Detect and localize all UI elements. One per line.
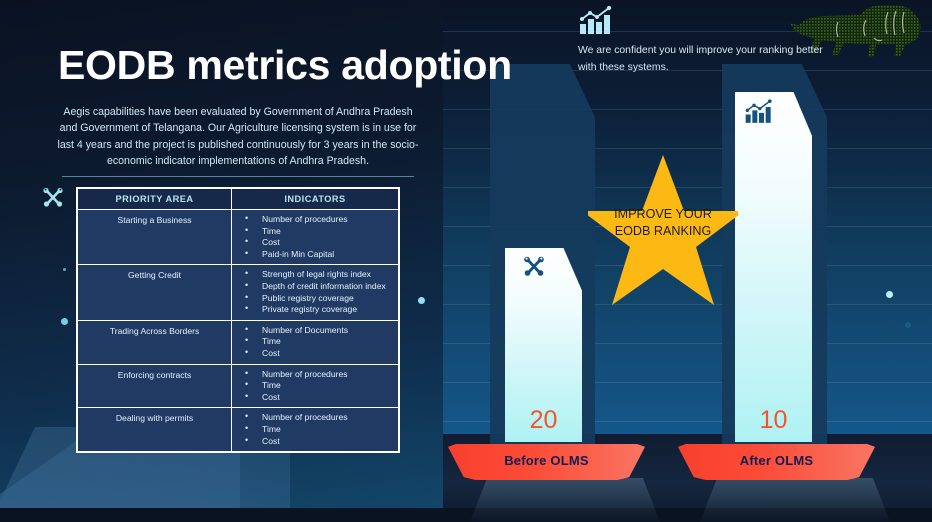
slide-root: EODB metrics adoption Aegis capabilities… bbox=[0, 0, 932, 522]
list-item: Strength of legal rights index bbox=[236, 269, 394, 281]
decor-dot bbox=[905, 322, 911, 328]
table-header-priority-area: PRIORITY AREA bbox=[77, 188, 232, 210]
priority-area-cell: Enforcing contracts bbox=[77, 364, 232, 408]
table-header-row: PRIORITY AREA INDICATORS bbox=[77, 188, 399, 210]
indicators-cell: Number of Documents Time Cost bbox=[232, 320, 399, 364]
priority-area-cell: Trading Across Borders bbox=[77, 320, 232, 364]
list-item: Private registry coverage bbox=[236, 304, 394, 316]
divider bbox=[62, 176, 414, 177]
list-item: Time bbox=[236, 336, 394, 348]
decor-dot bbox=[418, 297, 425, 304]
page-title: EODB metrics adoption bbox=[58, 42, 512, 89]
priority-area-cell: Starting a Business bbox=[77, 210, 232, 265]
banner-shadow-after bbox=[700, 478, 890, 522]
star-label: IMPROVE YOUR EODB RANKING bbox=[597, 206, 729, 240]
table-row: Dealing with permits Number of procedure… bbox=[77, 408, 399, 452]
table-row: Getting Credit Strength of legal rights … bbox=[77, 265, 399, 320]
decor-dot bbox=[63, 268, 66, 271]
list-item: Depth of credit information index bbox=[236, 281, 394, 293]
indicators-cell: Number of procedures Time Cost bbox=[232, 364, 399, 408]
decor-dot bbox=[886, 291, 893, 298]
list-item: Number of Documents bbox=[236, 325, 394, 337]
bar-chart-icon bbox=[744, 99, 774, 125]
indicators-cell: Strength of legal rights index Depth of … bbox=[232, 265, 399, 320]
list-item: Time bbox=[236, 226, 394, 238]
list-item: Paid-in Min Capital bbox=[236, 249, 394, 261]
banner-label-before: Before OLMS bbox=[448, 444, 645, 477]
table-header-indicators: INDICATORS bbox=[232, 188, 399, 210]
bar-after-olms bbox=[735, 92, 812, 442]
metrics-table: PRIORITY AREA INDICATORS Starting a Busi… bbox=[76, 187, 400, 453]
priority-area-cell: Dealing with permits bbox=[77, 408, 232, 452]
priority-area-cell: Getting Credit bbox=[77, 265, 232, 320]
table-row: Trading Across Borders Number of Documen… bbox=[77, 320, 399, 364]
list-item: Public registry coverage bbox=[236, 293, 394, 305]
list-item: Cost bbox=[236, 237, 394, 249]
indicators-cell: Number of procedures Time Cost bbox=[232, 408, 399, 452]
decor-dot bbox=[61, 318, 68, 325]
list-item: Number of procedures bbox=[236, 369, 394, 381]
table-row: Starting a Business Number of procedures… bbox=[77, 210, 399, 265]
list-item: Cost bbox=[236, 392, 394, 404]
list-item: Cost bbox=[236, 348, 394, 360]
tools-icon bbox=[41, 186, 65, 210]
list-item: Cost bbox=[236, 436, 394, 448]
banner-before-olms[interactable]: Before OLMS bbox=[448, 444, 645, 480]
banner-shadow-before bbox=[470, 478, 660, 522]
list-item: Time bbox=[236, 424, 394, 436]
table-row: Enforcing contracts Number of procedures… bbox=[77, 364, 399, 408]
intro-paragraph: Aegis capabilities have been evaluated b… bbox=[57, 104, 419, 170]
indicators-cell: Number of procedures Time Cost Paid-in M… bbox=[232, 210, 399, 265]
list-item: Time bbox=[236, 380, 394, 392]
banner-after-olms[interactable]: After OLMS bbox=[678, 444, 875, 480]
confidence-note: We are confident you will improve your r… bbox=[578, 42, 828, 76]
list-item: Number of procedures bbox=[236, 214, 394, 226]
bar-chart-icon bbox=[578, 6, 614, 36]
tools-icon bbox=[521, 255, 547, 279]
bar-value-after: 10 bbox=[735, 406, 812, 435]
bar-value-before: 20 bbox=[505, 406, 582, 435]
list-item: Number of procedures bbox=[236, 412, 394, 424]
banner-label-after: After OLMS bbox=[678, 444, 875, 477]
